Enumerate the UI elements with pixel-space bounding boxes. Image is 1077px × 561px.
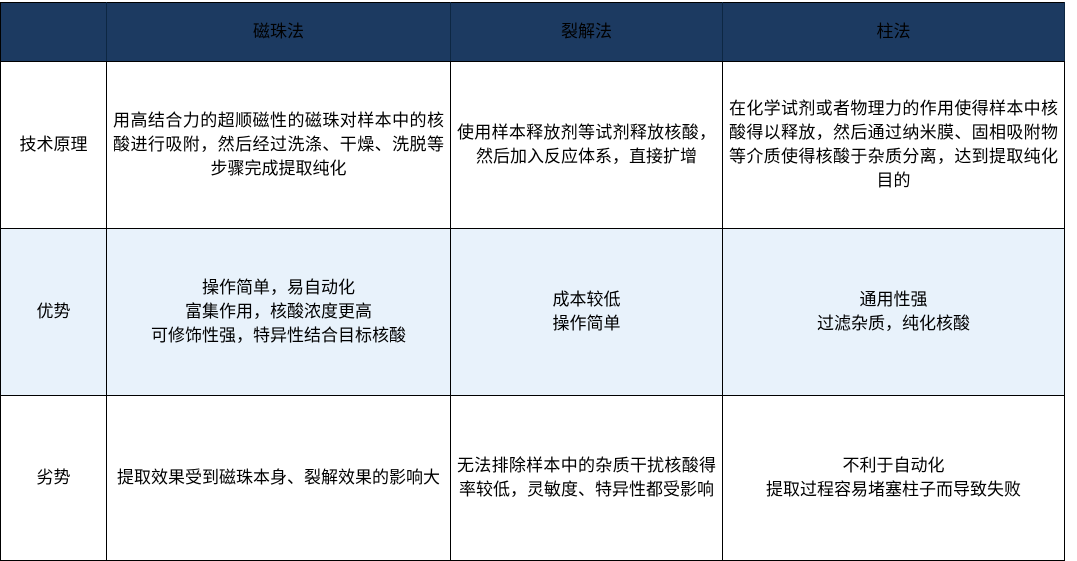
- cell-text: 成本较低 操作简单: [457, 288, 716, 336]
- cell-text: 不利于自动化 提取过程容易堵塞柱子而导致失败: [729, 454, 1058, 502]
- cell-principle-magnetic-bead: 用高结合力的超顺磁性的磁珠对样本中的核酸进行吸附，然后经过洗涤、干燥、洗脱等步骤…: [107, 62, 451, 229]
- spreadsheet-canvas: 磁珠法 裂解法 柱法 技术原理 用高结合力的超顺磁性的磁珠对样本中的核酸进行吸附…: [0, 0, 1077, 536]
- row-label-technical-principle: 技术原理: [1, 62, 107, 229]
- cell-principle-lysis: 使用样本释放剂等试剂释放核酸，然后加入反应体系，直接扩增: [451, 62, 723, 229]
- cell-advantages-magnetic-bead: 操作简单，易自动化 富集作用，核酸浓度更高 可修饰性强，特异性结合目标核酸: [107, 229, 451, 396]
- cell-text: 使用样本释放剂等试剂释放核酸，然后加入反应体系，直接扩增: [457, 121, 716, 169]
- table-header-corner: [1, 3, 107, 62]
- cell-text: 用高结合力的超顺磁性的磁珠对样本中的核酸进行吸附，然后经过洗涤、干燥、洗脱等步骤…: [113, 109, 444, 181]
- table-body: 技术原理 用高结合力的超顺磁性的磁珠对样本中的核酸进行吸附，然后经过洗涤、干燥、…: [1, 62, 1065, 561]
- cell-text: 操作简单，易自动化 富集作用，核酸浓度更高 可修饰性强，特异性结合目标核酸: [113, 276, 444, 348]
- cell-text: 在化学试剂或者物理力的作用使得样本中核酸得以释放，然后通过纳米膜、固相吸附物等介…: [729, 97, 1058, 194]
- table-row: 优势 操作简单，易自动化 富集作用，核酸浓度更高 可修饰性强，特异性结合目标核酸…: [1, 229, 1065, 396]
- cell-advantages-column-method: 通用性强 过滤杂质，纯化核酸: [723, 229, 1065, 396]
- table-header-lysis: 裂解法: [451, 3, 723, 62]
- cell-text: 无法排除样本中的杂质干扰核酸得率较低，灵敏度、特异性都受影响: [457, 454, 716, 502]
- table-header: 磁珠法 裂解法 柱法: [1, 3, 1065, 62]
- table-row: 技术原理 用高结合力的超顺磁性的磁珠对样本中的核酸进行吸附，然后经过洗涤、干燥、…: [1, 62, 1065, 229]
- cell-principle-column-method: 在化学试剂或者物理力的作用使得样本中核酸得以释放，然后通过纳米膜、固相吸附物等介…: [723, 62, 1065, 229]
- table-header-column-method: 柱法: [723, 3, 1065, 62]
- cell-text: 通用性强 过滤杂质，纯化核酸: [729, 288, 1058, 336]
- table-header-row: 磁珠法 裂解法 柱法: [1, 3, 1065, 62]
- cell-advantages-lysis: 成本较低 操作简单: [451, 229, 723, 396]
- cell-text: 提取效果受到磁珠本身、裂解效果的影响大: [113, 466, 444, 490]
- row-label-advantages: 优势: [1, 229, 107, 396]
- table-header-magnetic-bead: 磁珠法: [107, 3, 451, 62]
- nucleic-acid-extraction-comparison-table: 磁珠法 裂解法 柱法 技术原理 用高结合力的超顺磁性的磁珠对样本中的核酸进行吸附…: [0, 2, 1065, 561]
